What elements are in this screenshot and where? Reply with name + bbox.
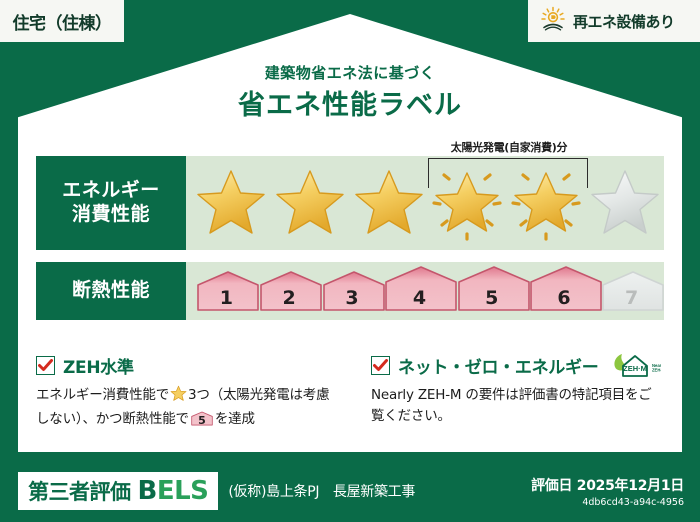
insulation-level-3: 3 [322,269,383,313]
renewable-equipment-label: 再エネ設備あり [573,11,675,32]
bels-wordmark: BELS [138,476,209,506]
zeh-m-logo-sub2: ZEH-M [652,368,661,373]
dwelling-type-tag: 住宅（住棟） [0,0,124,42]
energy-label-line2: 消費性能 [72,203,150,227]
insulation-label: 断熱性能 [72,279,150,303]
net-zero-energy-checkbox [371,356,390,375]
insulation-rating-area: 1 2 3 4 [186,262,664,320]
solar-bracket-caption: 太陽光発電(自家消費)分 [404,139,614,155]
project-name: (仮称)島上条PJ 長屋新築工事 [228,481,415,501]
star-2 [271,161,350,245]
zeh-standard-body: エネルギー消費性能で3つ（太陽光発電は考慮しない）、かつ断熱性能で5を達成 [36,385,341,430]
net-zero-energy-heading: ネット・ゼロ・エネルギー ZEH·M Nearly ZEH-M [371,352,656,378]
evaluation-info: 評価日 2025年12月1日 4db6cd43-a94c-4956 [531,475,684,508]
insulation-level-6: 6 [529,269,599,313]
check-icon [38,359,53,372]
third-party-eval-label: 第三者評価 [28,476,131,506]
insulation-level-4-number: 4 [413,287,426,313]
star-1 [192,161,271,245]
zeh-m-logo-text: ZEH·M [624,364,648,373]
net-zero-energy-check: ネット・ゼロ・エネルギー ZEH·M Nearly ZEH-M Nearly Z… [351,352,666,444]
dwelling-type-label: 住宅（住棟） [13,9,112,34]
insulation-level-5: 5 [457,269,527,313]
star-5 [507,161,586,245]
label-subtitle: 建築物省エネ法に基づく [0,62,700,83]
footer-bar: 第三者評価 BELS (仮称)島上条PJ 長屋新築工事 評価日 2025年12月… [0,460,700,522]
inline-star-icon [170,385,187,409]
zeh-standard-checkbox [36,356,55,375]
net-zero-energy-body: Nearly ZEH-M の要件は評価書の特記項目をご覧ください。 [371,385,656,427]
renewable-equipment-badge: 再エネ設備あり [528,0,700,42]
zeh-standard-title: ZEH水準 [63,353,134,378]
insulation-level-7-number: 7 [625,287,638,313]
zeh-standard-check: ZEH水準 エネルギー消費性能で3つ（太陽光発電は考慮しない）、かつ断熱性能で5… [36,352,351,444]
inline-house-badge: 5 [191,410,213,427]
insulation-level-scale: 1 2 3 4 [186,262,664,320]
bels-plate: 第三者評価 BELS [18,472,218,510]
insulation-performance-label-box: 断熱性能 [36,262,186,320]
energy-performance-row: エネルギー 消費性能 太陽光発電(自家消費)分 [36,156,664,250]
energy-performance-label-box: エネルギー 消費性能 [36,156,186,250]
solar-sun-icon [540,6,566,36]
inline-house-number: 5 [191,412,213,429]
star-4 [428,161,507,245]
insulation-level-2: 2 [259,269,320,313]
evaluation-date: 評価日 2025年12月1日 [531,475,684,495]
insulation-level-7: 7 [601,269,662,313]
insulation-level-4: 4 [384,269,454,313]
evaluation-id: 4db6cd43-a94c-4956 [531,497,684,508]
insulation-level-1: 1 [196,269,257,313]
page-title: 省エネ性能ラベル [0,83,700,122]
insulation-performance-row: 断熱性能 1 [36,262,664,320]
star-6-empty [585,161,664,245]
insulation-level-3-number: 3 [345,287,358,313]
star-3 [349,161,428,245]
check-icon [373,359,388,372]
insulation-level-5-number: 5 [485,287,498,313]
energy-label-line1: エネルギー [62,179,160,203]
zeh-body-part1: エネルギー消費性能で [36,387,169,403]
bels-wordmark-els: ELS [157,476,209,506]
energy-rating-area: 太陽光発電(自家消費)分 [186,156,664,250]
insulation-level-1-number: 1 [220,287,233,313]
zeh-m-logo-icon: ZEH·M Nearly ZEH-M [611,350,661,380]
energy-performance-label: 住宅（住棟） 再エネ設備あり 建築物省エネ法 [0,0,700,522]
zeh-body-part3: を達成 [215,411,255,427]
net-zero-energy-title: ネット・ゼロ・エネルギー [398,353,598,378]
certification-checks: ZEH水準 エネルギー消費性能で3つ（太陽光発電は考慮しない）、かつ断熱性能で5… [36,352,666,444]
star-rating [186,156,664,250]
evaluation-date-label: 評価日 [531,478,572,494]
bels-wordmark-b: B [138,476,157,506]
zeh-standard-heading: ZEH水準 [36,352,341,378]
insulation-level-6-number: 6 [557,287,570,313]
insulation-level-2-number: 2 [283,287,296,313]
evaluation-date-value: 2025年12月1日 [577,478,684,494]
